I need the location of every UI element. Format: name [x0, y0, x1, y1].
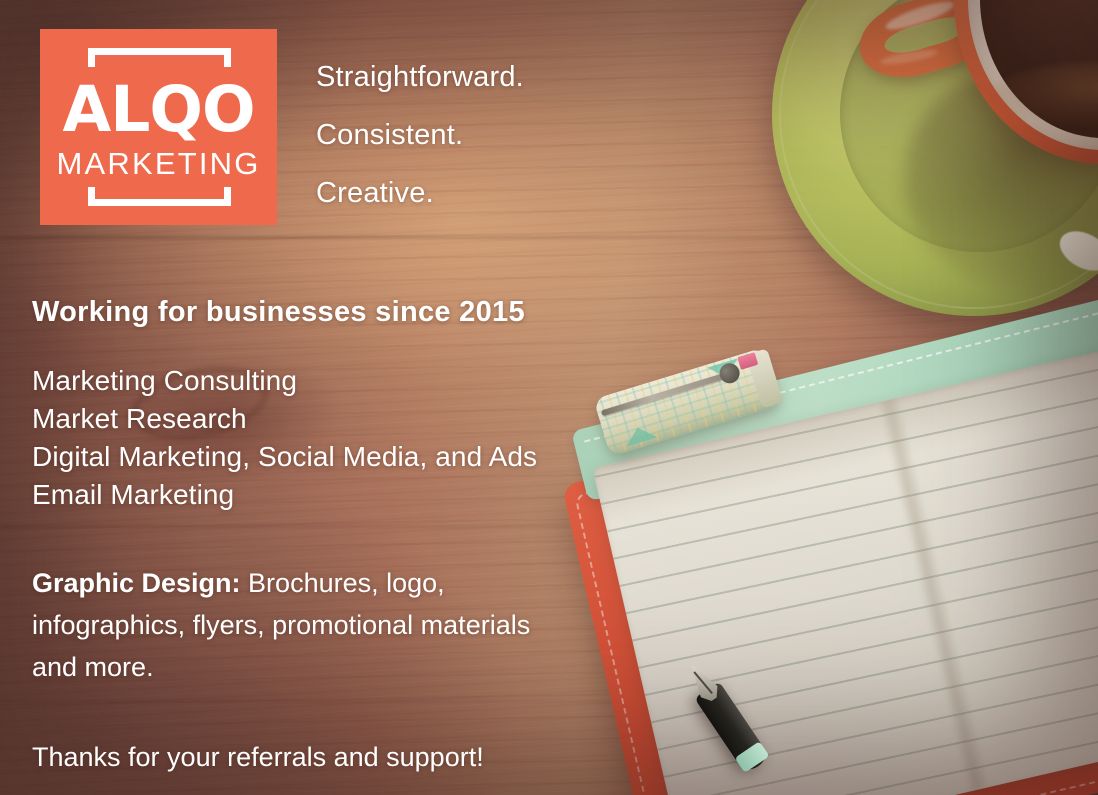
- service-list-item: Market Research: [32, 400, 632, 438]
- logo-subtitle: MARKETING: [40, 148, 277, 180]
- tagline-item: Consistent.: [316, 106, 524, 164]
- bracket-stub-left: [88, 48, 95, 67]
- bracket-stub-right: [224, 48, 231, 67]
- thanks-message: Thanks for your referrals and support!: [32, 740, 632, 774]
- alqo-logo[interactable]: ALQO MARKETING: [40, 29, 277, 225]
- bracket-bar: [88, 199, 231, 206]
- bracket-top-icon: [88, 48, 231, 67]
- service-list: Marketing Consulting Market Research Dig…: [32, 362, 632, 514]
- body-copy: Working for businesses since 2015 Market…: [32, 294, 632, 774]
- service-list-item: Email Marketing: [32, 476, 632, 514]
- headline: Working for businesses since 2015: [32, 294, 632, 330]
- advertisement-canvas: ALQO MARKETING Straightforward. Consiste…: [0, 0, 1098, 795]
- bracket-bottom-icon: [88, 187, 231, 206]
- tagline-list: Straightforward. Consistent. Creative.: [316, 48, 524, 222]
- graphic-design-paragraph: Graphic Design: Brochures, logo, infogra…: [32, 562, 532, 688]
- bracket-bar: [88, 48, 231, 55]
- service-list-item: Marketing Consulting: [32, 362, 632, 400]
- service-list-item: Digital Marketing, Social Media, and Ads: [32, 438, 632, 476]
- logo-brand-name: ALQO: [40, 78, 277, 142]
- tagline-item: Straightforward.: [316, 48, 524, 106]
- tagline-item: Creative.: [316, 164, 524, 222]
- bracket-stub-right: [224, 187, 231, 206]
- graphic-design-label: Graphic Design:: [32, 568, 241, 598]
- bracket-stub-left: [88, 187, 95, 206]
